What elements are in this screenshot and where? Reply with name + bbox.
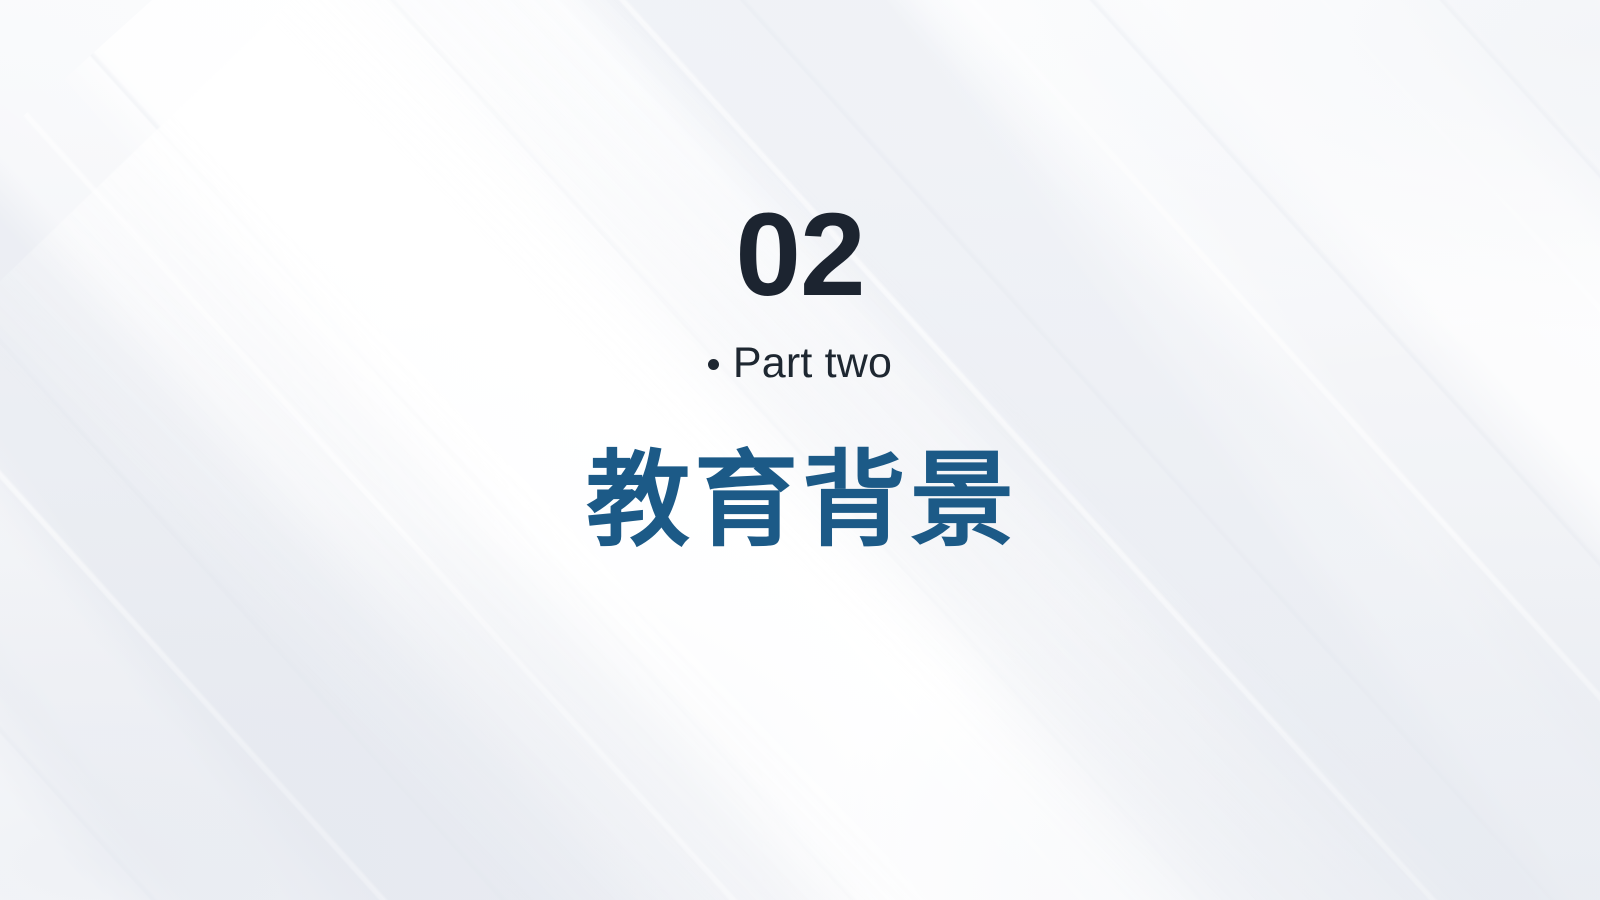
section-subtitle-row: Part two xyxy=(0,340,1600,386)
section-title: 教育背景 xyxy=(0,443,1600,559)
bullet-dot-icon xyxy=(708,359,719,370)
slide-content: 02 Part two 教育背景 xyxy=(0,0,1600,900)
section-number: 02 xyxy=(0,196,1600,314)
section-subtitle: Part two xyxy=(733,340,892,386)
presentation-slide: 02 Part two 教育背景 xyxy=(0,0,1600,900)
